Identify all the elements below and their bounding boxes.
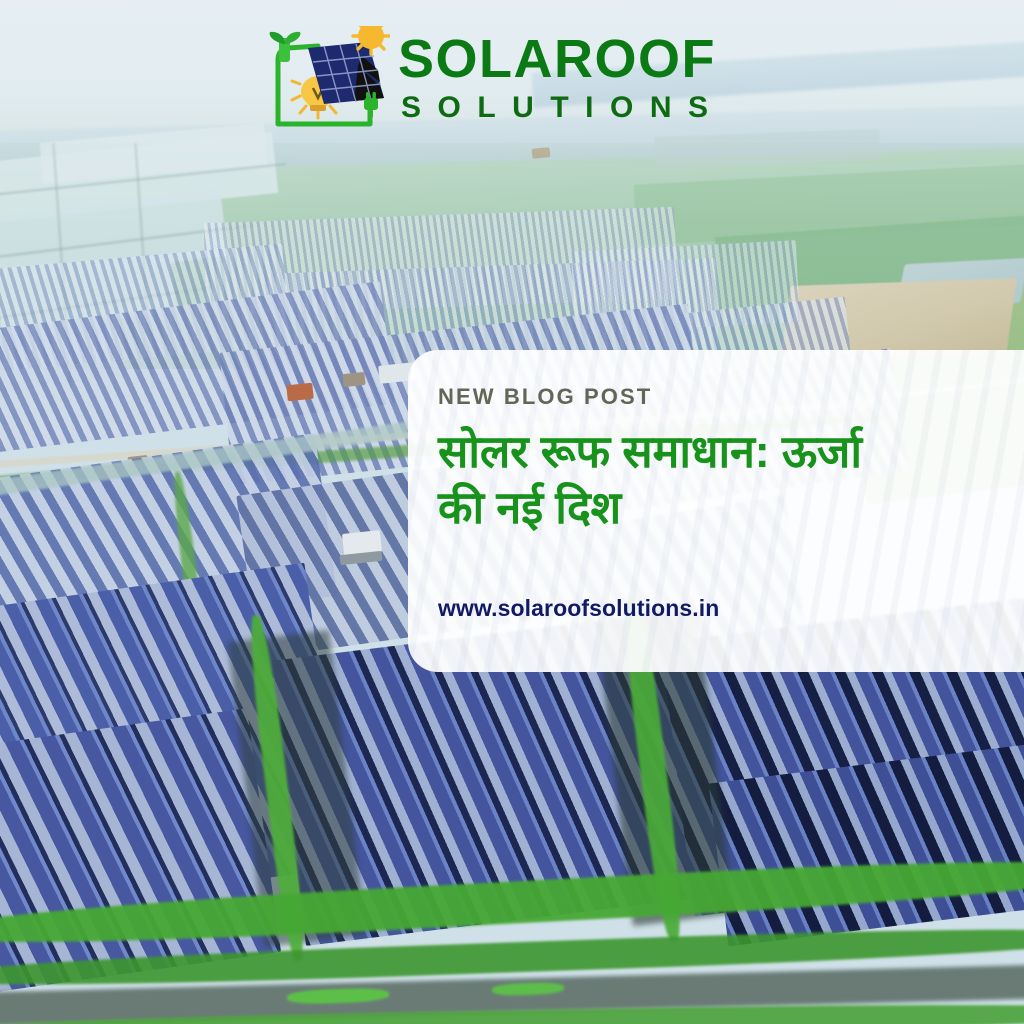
website-url[interactable]: www.solaroofsolutions.in — [438, 595, 719, 622]
plant-leaf-icon — [270, 32, 285, 44]
logo-mark-icon — [258, 26, 390, 134]
sun-icon — [353, 26, 389, 54]
card-headline-line-1: सोलर रूफ समाधान: ऊर्जा — [438, 424, 1010, 480]
brand-wordmark: SOLAROOF SOLUTIONS — [398, 32, 725, 125]
farm-building — [286, 383, 314, 402]
bulb-base — [310, 105, 326, 111]
card-eyebrow-label: NEW BLOG POST — [438, 384, 1010, 410]
social-graphic-canvas: SOLAROOF SOLUTIONS NEW BLOG POST सोलर रू… — [0, 0, 1024, 1024]
farm-building — [342, 372, 365, 387]
brand-logo: SOLAROOF SOLUTIONS — [258, 26, 728, 136]
card-headline: सोलर रूफ समाधान: ऊर्जा की नई दिश — [438, 424, 1010, 536]
blog-post-card: NEW BLOG POST सोलर रूफ समाधान: ऊर्जा की … — [408, 350, 1024, 672]
brand-name-sub: SOLUTIONS — [401, 91, 725, 125]
card-content: NEW BLOG POST सोलर रूफ समाधान: ऊर्जा की … — [438, 384, 1010, 536]
brand-name-main: SOLAROOF — [398, 32, 725, 86]
card-headline-line-2: की नई दिश — [438, 480, 1010, 536]
plant-leaf-icon — [285, 32, 300, 44]
